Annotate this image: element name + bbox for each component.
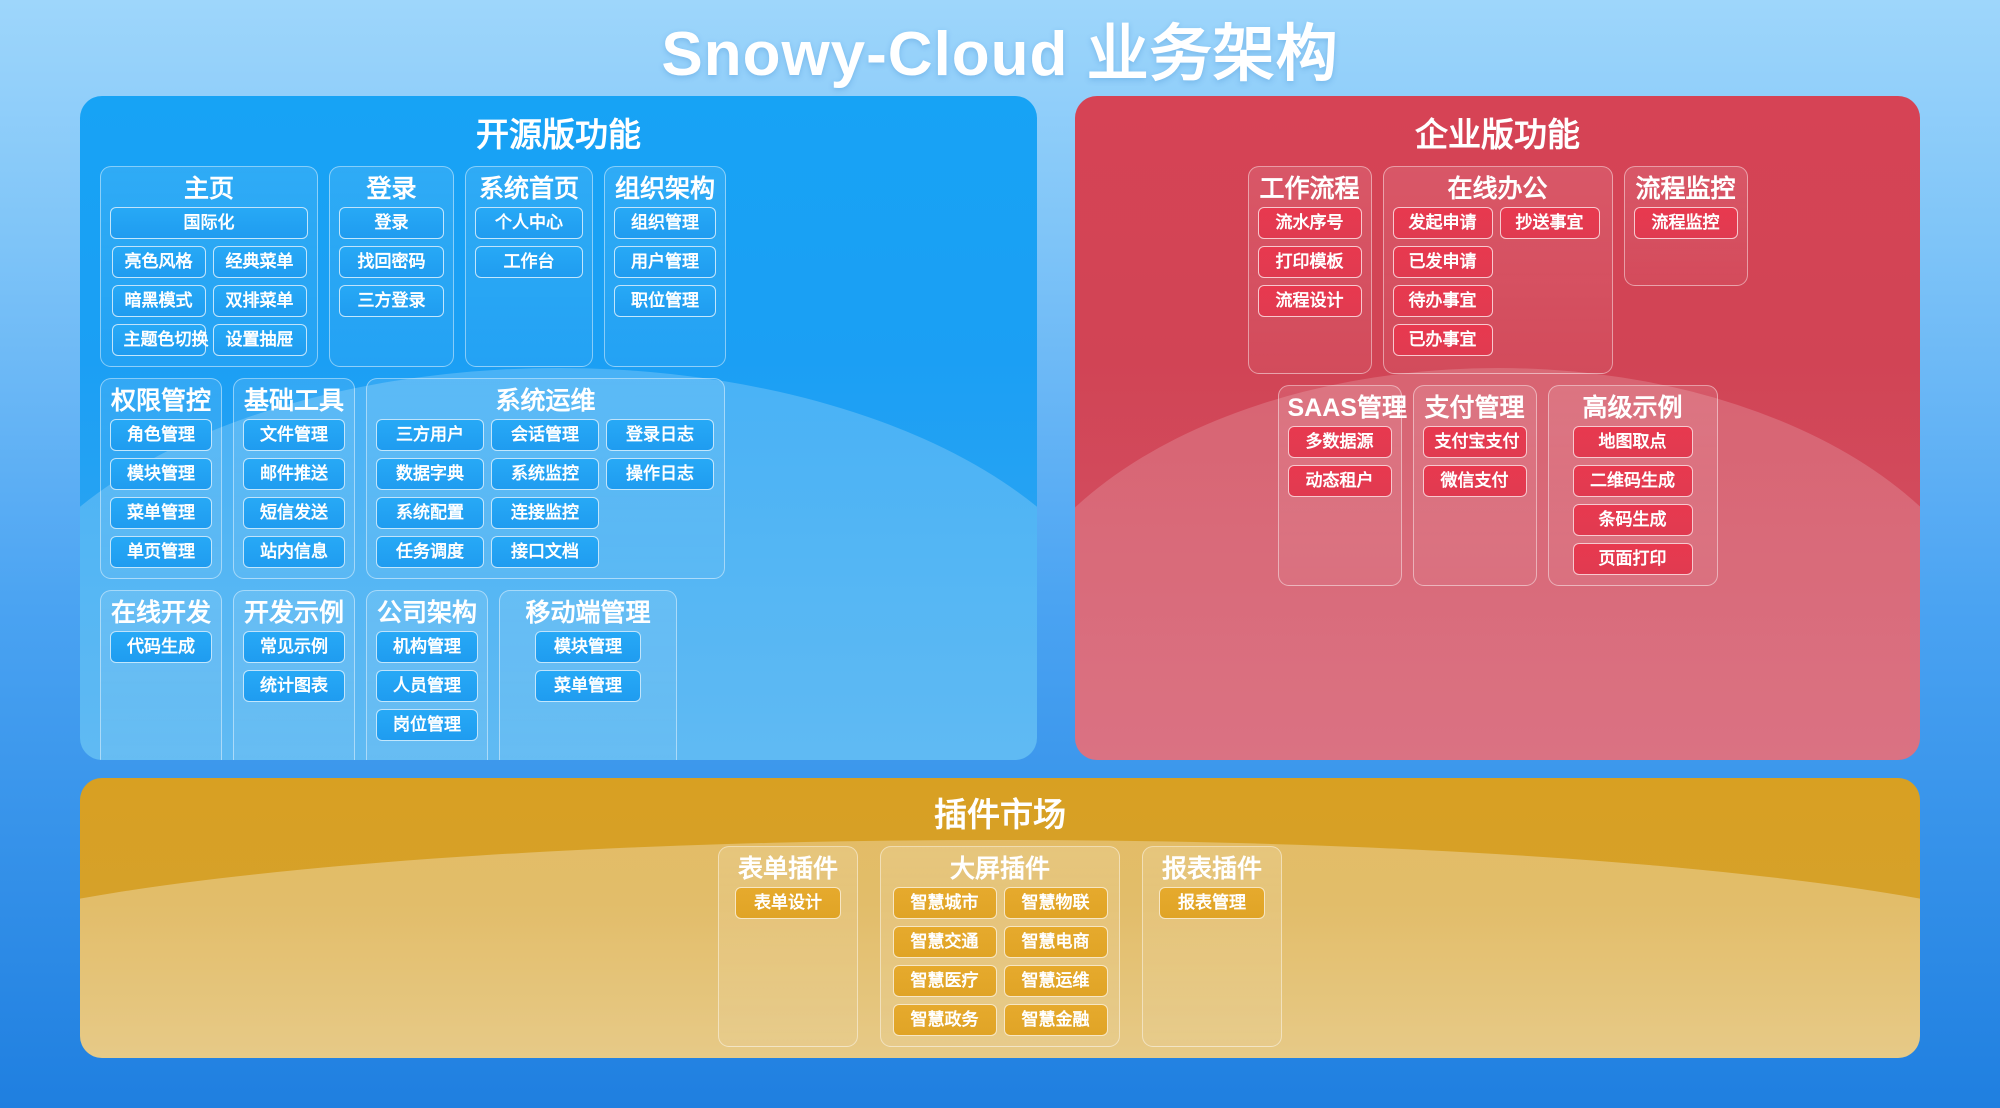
group-title-dev-demo: 开发示例 [243,595,345,631]
item-screen-plugin-6[interactable]: 智慧政务 [893,1004,997,1036]
online-office-grid-spacer-2 [1500,285,1600,317]
item-permission-3[interactable]: 单页管理 [110,536,212,568]
item-advanced-demo-0[interactable]: 地图取点 [1573,426,1693,458]
plugin-market-panel-title: 插件市场 [100,790,1900,840]
item-advanced-demo-1[interactable]: 二维码生成 [1573,465,1693,497]
item-home-6[interactable]: 设置抽屉 [213,324,307,356]
item-login-2[interactable]: 三方登录 [339,285,444,317]
item-process-monitor-0[interactable]: 流程监控 [1634,207,1738,239]
group-workflow: 工作流程 流水序号 打印模板 流程设计 [1248,166,1372,374]
enterprise-groups: 工作流程 流水序号 打印模板 流程设计 在线办公 发起申请 抄送事宜 已发申请 … [1095,166,1900,597]
group-saas: SAAS管理 多数据源 动态租户 [1278,385,1402,586]
group-title-advanced-demo: 高级示例 [1558,390,1708,426]
item-saas-0[interactable]: 多数据源 [1288,426,1392,458]
group-items-mobile-management: 模块管理 菜单管理 [509,631,667,702]
group-items-screen-plugin: 智慧城市 智慧物联 智慧交通 智慧电商 智慧医疗 智慧运维 智慧政务 智慧金融 [890,887,1110,1036]
group-items-dev-demo: 常见示例 统计图表 [243,631,345,702]
item-system-home-0[interactable]: 个人中心 [475,207,583,239]
item-system-ops-1[interactable]: 会话管理 [491,419,599,451]
group-items-permission: 角色管理 模块管理 菜单管理 单页管理 [110,419,212,568]
group-items-payment: 支付宝支付 微信支付 [1423,426,1527,497]
open-row-1: 主页 国际化 亮色风格 经典菜单 暗黑模式 双排菜单 主题色切换 设置抽屉 登录… [100,166,1017,367]
group-title-process-monitor: 流程监控 [1634,171,1738,207]
group-basic-tools: 基础工具 文件管理 邮件推送 短信发送 站内信息 [233,378,355,579]
group-title-basic-tools: 基础工具 [243,383,345,419]
item-system-ops-4[interactable]: 系统监控 [491,458,599,490]
item-workflow-0[interactable]: 流水序号 [1258,207,1362,239]
item-report-plugin-0[interactable]: 报表管理 [1159,887,1265,919]
group-title-saas: SAAS管理 [1288,390,1392,426]
item-system-ops-5[interactable]: 操作日志 [606,458,714,490]
group-home: 主页 国际化 亮色风格 经典菜单 暗黑模式 双排菜单 主题色切换 设置抽屉 [100,166,318,367]
item-dev-demo-0[interactable]: 常见示例 [243,631,345,663]
group-system-ops: 系统运维 三方用户 会话管理 登录日志 数据字典 系统监控 操作日志 系统配置 … [366,378,725,579]
group-form-plugin: 表单插件 表单设计 [718,846,858,1047]
item-payment-0[interactable]: 支付宝支付 [1423,426,1527,458]
group-title-online-office: 在线办公 [1393,171,1603,207]
group-permission: 权限管控 角色管理 模块管理 菜单管理 单页管理 [100,378,222,579]
item-system-ops-8[interactable]: 任务调度 [376,536,484,568]
group-title-form-plugin: 表单插件 [728,851,848,887]
group-organization: 组织架构 组织管理 用户管理 职位管理 [604,166,726,367]
enterprise-panel-title: 企业版功能 [1095,110,1900,160]
item-screen-plugin-3[interactable]: 智慧电商 [1004,926,1108,958]
item-system-ops-0[interactable]: 三方用户 [376,419,484,451]
open-source-panel-title: 开源版功能 [100,110,1017,160]
top-panels-row: 开源版功能 主页 国际化 亮色风格 经典菜单 暗黑模式 双排菜单 主题色切换 设… [0,96,2000,760]
item-screen-plugin-1[interactable]: 智慧物联 [1004,887,1108,919]
group-items-online-office: 发起申请 抄送事宜 已发申请 待办事宜 已办事宜 [1393,207,1603,356]
group-items-process-monitor: 流程监控 [1634,207,1738,239]
item-system-ops-2[interactable]: 登录日志 [606,419,714,451]
item-system-ops-9[interactable]: 接口文档 [491,536,599,568]
item-system-ops-7[interactable]: 连接监控 [491,497,599,529]
group-title-organization: 组织架构 [614,171,716,207]
plugin-market-groups: 表单插件 表单设计 大屏插件 智慧城市 智慧物联 智慧交通 智慧电商 智慧医疗 … [100,846,1900,1047]
group-title-workflow: 工作流程 [1258,171,1362,207]
group-items-form-plugin: 表单设计 [728,887,848,919]
item-mobile-management-0[interactable]: 模块管理 [535,631,641,663]
item-workflow-2[interactable]: 流程设计 [1258,285,1362,317]
item-company-structure-0[interactable]: 机构管理 [376,631,478,663]
item-workflow-1[interactable]: 打印模板 [1258,246,1362,278]
group-title-company-structure: 公司架构 [376,595,478,631]
group-title-online-dev: 在线开发 [110,595,212,631]
item-system-home-1[interactable]: 工作台 [475,246,583,278]
group-online-office: 在线办公 发起申请 抄送事宜 已发申请 待办事宜 已办事宜 [1383,166,1613,374]
open-source-panel: 开源版功能 主页 国际化 亮色风格 经典菜单 暗黑模式 双排菜单 主题色切换 设… [80,96,1037,760]
group-report-plugin: 报表插件 报表管理 [1142,846,1282,1047]
item-basic-tools-2[interactable]: 短信发送 [243,497,345,529]
item-mobile-management-1[interactable]: 菜单管理 [535,670,641,702]
item-online-office-3[interactable]: 待办事宜 [1393,285,1493,317]
group-advanced-demo: 高级示例 地图取点 二维码生成 条码生成 页面打印 [1548,385,1718,586]
group-items-advanced-demo: 地图取点 二维码生成 条码生成 页面打印 [1558,426,1708,575]
item-advanced-demo-2[interactable]: 条码生成 [1573,504,1693,536]
group-company-structure: 公司架构 机构管理 人员管理 岗位管理 [366,590,488,760]
group-title-login: 登录 [339,171,444,207]
group-items-organization: 组织管理 用户管理 职位管理 [614,207,716,317]
system-ops-grid-spacer [606,497,714,529]
item-home-4[interactable]: 双排菜单 [213,285,307,317]
item-organization-0[interactable]: 组织管理 [614,207,716,239]
item-form-plugin-0[interactable]: 表单设计 [735,887,841,919]
item-online-office-1[interactable]: 抄送事宜 [1500,207,1600,239]
item-dev-demo-1[interactable]: 统计图表 [243,670,345,702]
online-office-grid-spacer-1 [1500,246,1600,278]
group-title-screen-plugin: 大屏插件 [890,851,1110,887]
group-payment: 支付管理 支付宝支付 微信支付 [1413,385,1537,586]
item-organization-2[interactable]: 职位管理 [614,285,716,317]
group-items-login: 登录 找回密码 三方登录 [339,207,444,317]
item-organization-1[interactable]: 用户管理 [614,246,716,278]
group-title-payment: 支付管理 [1423,390,1527,426]
item-basic-tools-3[interactable]: 站内信息 [243,536,345,568]
group-items-system-ops: 三方用户 会话管理 登录日志 数据字典 系统监控 操作日志 系统配置 连接监控 … [376,419,715,568]
item-screen-plugin-5[interactable]: 智慧运维 [1004,965,1108,997]
item-home-5[interactable]: 主题色切换 [112,324,206,356]
group-dev-demo: 开发示例 常见示例 统计图表 [233,590,355,760]
item-permission-2[interactable]: 菜单管理 [110,497,212,529]
item-screen-plugin-0[interactable]: 智慧城市 [893,887,997,919]
item-login-0[interactable]: 登录 [339,207,444,239]
group-items-online-dev: 代码生成 [110,631,212,663]
group-items-home: 国际化 亮色风格 经典菜单 暗黑模式 双排菜单 主题色切换 设置抽屉 [110,207,308,356]
group-items-company-structure: 机构管理 人员管理 岗位管理 [376,631,478,741]
item-home-1[interactable]: 亮色风格 [112,246,206,278]
item-login-1[interactable]: 找回密码 [339,246,444,278]
item-screen-plugin-2[interactable]: 智慧交通 [893,926,997,958]
item-system-ops-3[interactable]: 数据字典 [376,458,484,490]
open-row-3: 在线开发 代码生成 开发示例 常见示例 统计图表 公司架构 机构管理 [100,590,1017,760]
open-row-2: 权限管控 角色管理 模块管理 菜单管理 单页管理 基础工具 文件管理 邮件推送 … [100,378,1017,579]
group-title-system-home: 系统首页 [475,171,583,207]
group-mobile-management: 移动端管理 模块管理 菜单管理 [499,590,677,760]
item-company-structure-2[interactable]: 岗位管理 [376,709,478,741]
item-basic-tools-0[interactable]: 文件管理 [243,419,345,451]
item-saas-1[interactable]: 动态租户 [1288,465,1392,497]
enterprise-panel: 企业版功能 工作流程 流水序号 打印模板 流程设计 在线办公 发起申请 抄送事宜 [1075,96,1920,760]
item-screen-plugin-7[interactable]: 智慧金融 [1004,1004,1108,1036]
group-title-report-plugin: 报表插件 [1152,851,1272,887]
item-company-structure-1[interactable]: 人员管理 [376,670,478,702]
group-title-mobile-management: 移动端管理 [509,595,667,631]
item-online-office-4[interactable]: 已办事宜 [1393,324,1493,356]
group-process-monitor: 流程监控 流程监控 [1624,166,1748,286]
item-online-dev-0[interactable]: 代码生成 [110,631,212,663]
group-system-home: 系统首页 个人中心 工作台 [465,166,593,367]
plugin-market-panel: 插件市场 表单插件 表单设计 大屏插件 智慧城市 智慧物联 智慧交通 智慧电商 … [80,778,1920,1058]
item-payment-1[interactable]: 微信支付 [1423,465,1527,497]
item-home-2[interactable]: 经典菜单 [213,246,307,278]
group-screen-plugin: 大屏插件 智慧城市 智慧物联 智慧交通 智慧电商 智慧医疗 智慧运维 智慧政务 … [880,846,1120,1047]
item-online-office-0[interactable]: 发起申请 [1393,207,1493,239]
item-screen-plugin-4[interactable]: 智慧医疗 [893,965,997,997]
group-title-permission: 权限管控 [110,383,212,419]
item-advanced-demo-3[interactable]: 页面打印 [1573,543,1693,575]
group-title-system-ops: 系统运维 [376,383,715,419]
item-home-0[interactable]: 国际化 [110,207,308,239]
item-basic-tools-1[interactable]: 邮件推送 [243,458,345,490]
open-source-groups: 主页 国际化 亮色风格 经典菜单 暗黑模式 双排菜单 主题色切换 设置抽屉 登录… [100,166,1017,760]
group-items-basic-tools: 文件管理 邮件推送 短信发送 站内信息 [243,419,345,568]
group-online-dev: 在线开发 代码生成 [100,590,222,760]
enterprise-row-1: 工作流程 流水序号 打印模板 流程设计 在线办公 发起申请 抄送事宜 已发申请 … [1248,166,1748,374]
group-items-report-plugin: 报表管理 [1152,887,1272,919]
item-permission-0[interactable]: 角色管理 [110,419,212,451]
item-home-3[interactable]: 暗黑模式 [112,285,206,317]
group-items-workflow: 流水序号 打印模板 流程设计 [1258,207,1362,317]
group-items-system-home: 个人中心 工作台 [475,207,583,278]
item-system-ops-6[interactable]: 系统配置 [376,497,484,529]
group-login: 登录 登录 找回密码 三方登录 [329,166,454,367]
enterprise-row-2: SAAS管理 多数据源 动态租户 支付管理 支付宝支付 微信支付 高级示例 [1278,385,1718,586]
item-online-office-2[interactable]: 已发申请 [1393,246,1493,278]
group-title-home: 主页 [110,171,308,207]
page-title: Snowy-Cloud 业务架构 [0,0,2000,96]
group-items-saas: 多数据源 动态租户 [1288,426,1392,497]
item-permission-1[interactable]: 模块管理 [110,458,212,490]
